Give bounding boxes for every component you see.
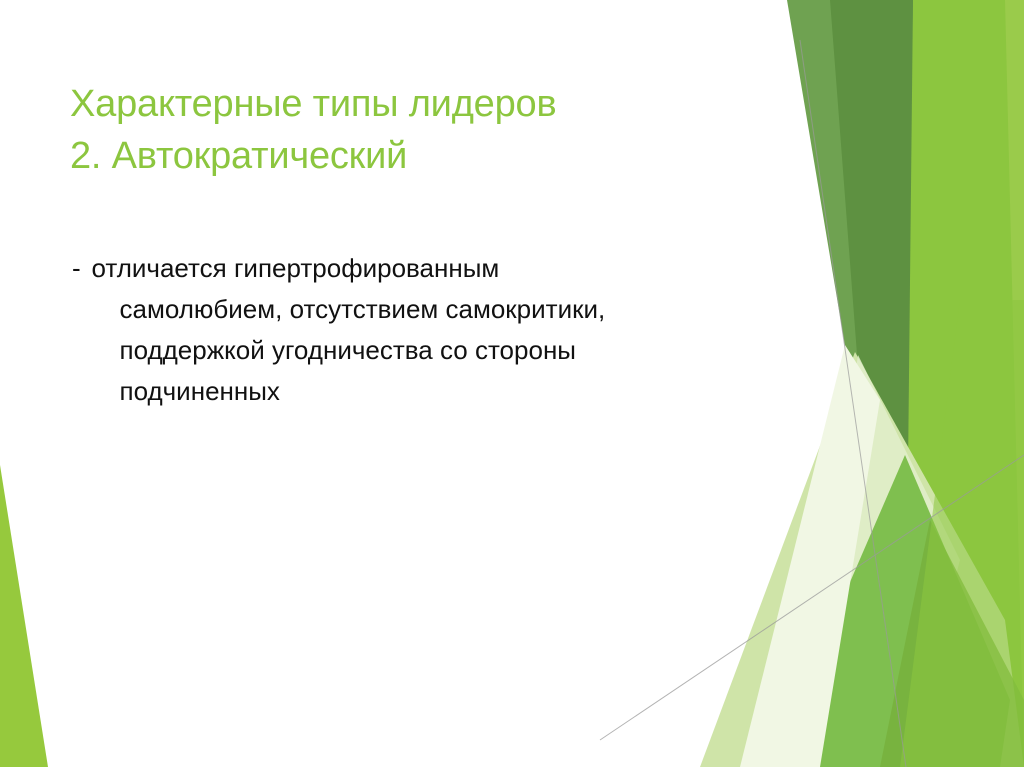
shape-bright-overlay-bottom — [900, 300, 1024, 767]
shape-mid-green-lower-band — [880, 520, 1024, 767]
body-paragraph: - отличается гипертрофированным самолюби… — [72, 248, 772, 412]
shape-right-bright-band — [800, 0, 1024, 767]
bullet-dash-marker: - — [72, 248, 92, 289]
body-line-4: подчиненных — [120, 371, 772, 412]
presentation-slide: Характерные типы лидеров 2. Автократичес… — [0, 0, 1024, 767]
slide-title: Характерные типы лидеров 2. Автократичес… — [70, 78, 770, 182]
body-line-2: самолюбием, отсутствием самокритики, — [120, 289, 772, 330]
slide-content: Характерные типы лидеров 2. Автократичес… — [0, 0, 790, 767]
shape-dark-green-wedge — [830, 0, 913, 470]
shape-mid-green-lower-diagonal — [770, 455, 1010, 767]
shape-muted-green-wedge — [787, 0, 913, 430]
slide-body: - отличается гипертрофированным самолюби… — [72, 248, 772, 412]
shape-pale-overlay-wedge — [800, 355, 960, 767]
title-line-2: 2. Автократический — [70, 130, 770, 182]
body-line-1: отличается гипертрофированным — [92, 248, 772, 289]
body-paragraph-text: отличается гипертрофированным самолюбием… — [92, 248, 772, 412]
title-line-1: Характерные типы лидеров — [70, 78, 770, 130]
body-line-3: поддержкой угодничества со стороны — [120, 330, 772, 371]
hairline-diagonal-steep — [800, 40, 906, 767]
shape-right-bright-slab — [940, 0, 1024, 767]
